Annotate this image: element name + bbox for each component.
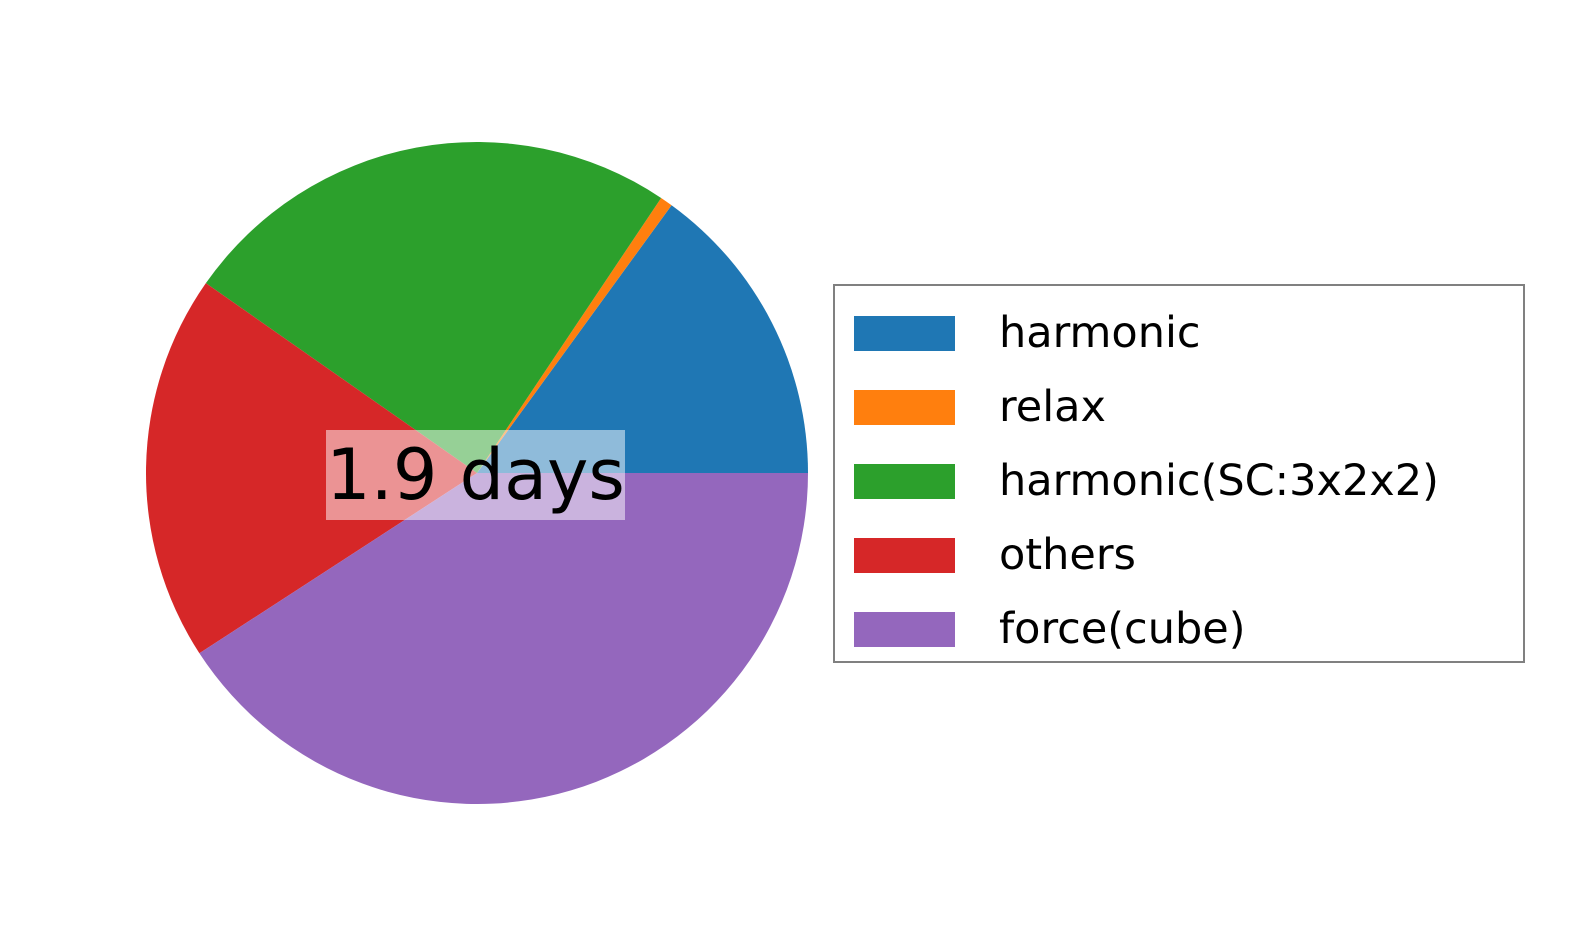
legend-swatch-relax <box>854 390 955 425</box>
legend-swatch-harmonic-sc <box>854 464 955 499</box>
legend-label-relax: relax <box>999 386 1106 429</box>
legend-label-harmonic: harmonic <box>999 312 1201 355</box>
legend-label-force-cube: force(cube) <box>999 608 1245 651</box>
legend-label-others: others <box>999 534 1136 577</box>
legend-swatch-harmonic <box>854 316 955 351</box>
legend-swatch-others <box>854 538 955 573</box>
legend-item-relax[interactable]: relax <box>854 381 1106 433</box>
legend-item-harmonic[interactable]: harmonic <box>854 307 1201 359</box>
legend-label-harmonic-sc: harmonic(SC:3x2x2) <box>999 460 1439 503</box>
pie-chart-figure: 1.9 days harmonic relax harmonic(SC:3x2x… <box>0 0 1584 951</box>
center-total-label: 1.9 days <box>326 430 625 520</box>
legend-box: harmonic relax harmonic(SC:3x2x2) others… <box>833 284 1525 663</box>
legend-item-others[interactable]: others <box>854 529 1136 581</box>
legend-swatch-force-cube <box>854 612 955 647</box>
legend-item-harmonic-sc[interactable]: harmonic(SC:3x2x2) <box>854 455 1439 507</box>
legend-item-force-cube[interactable]: force(cube) <box>854 603 1245 655</box>
center-total-label-text: 1.9 days <box>326 440 625 510</box>
